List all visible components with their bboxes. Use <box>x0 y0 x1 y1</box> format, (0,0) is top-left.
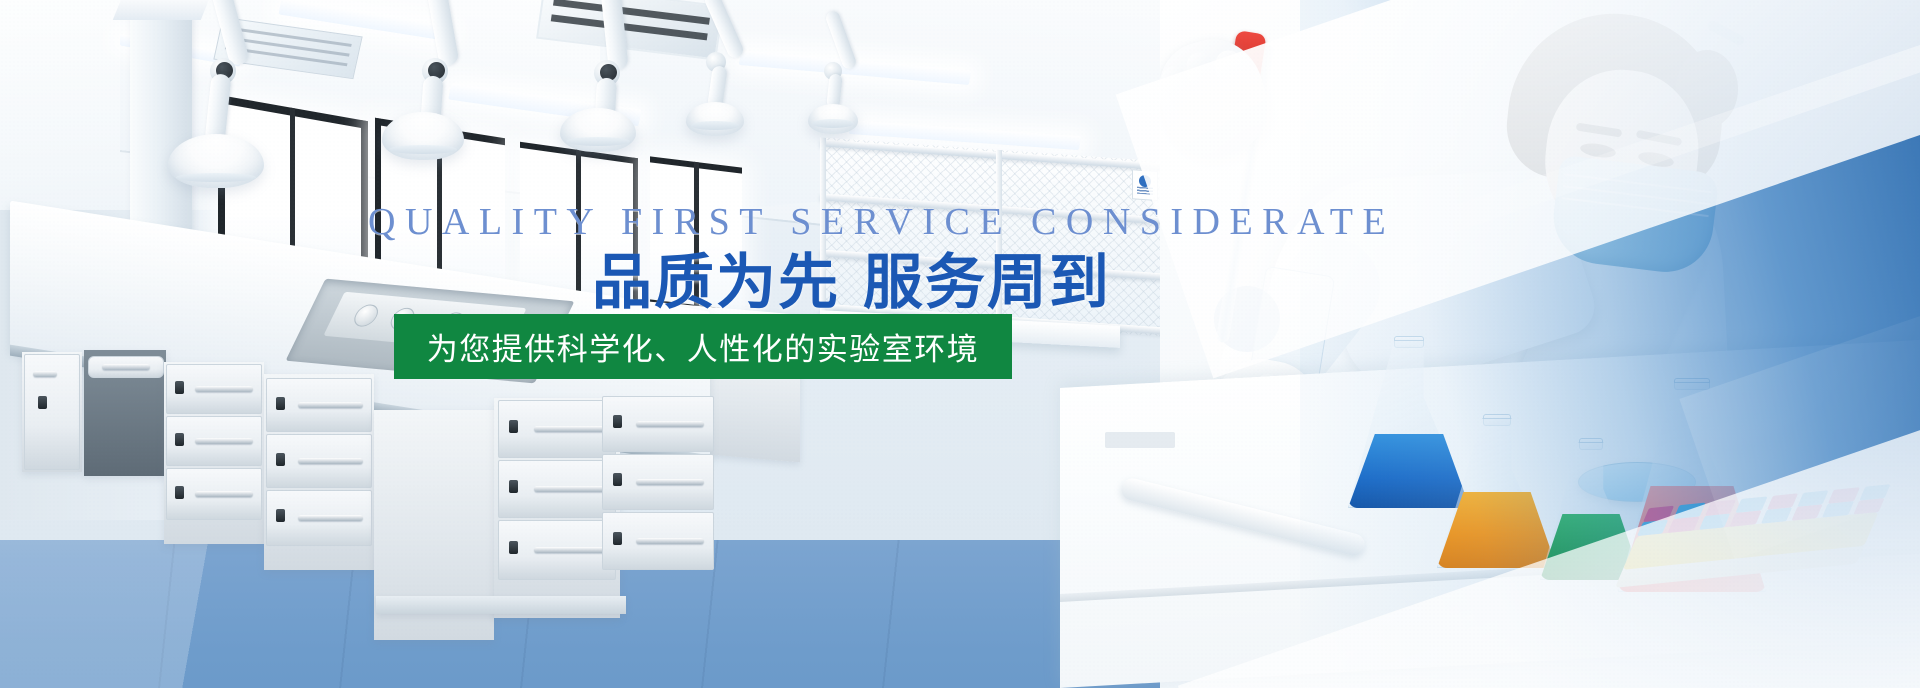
drawer-l3[interactable] <box>166 468 262 520</box>
drawer-r2[interactable] <box>266 434 372 488</box>
bench-plinth <box>376 596 626 614</box>
lab-hero-banner: QUALITY FIRST SERVICE CONSIDERATE 品质为先 服… <box>0 0 1920 688</box>
drawer-f4[interactable] <box>602 396 714 452</box>
english-tagline: QUALITY FIRST SERVICE CONSIDERATE <box>368 203 1395 241</box>
drawer-f2[interactable] <box>498 460 616 518</box>
drawer-l2[interactable] <box>166 416 262 466</box>
orange-flask-liquid <box>1437 492 1557 568</box>
drawer-r1[interactable] <box>266 378 372 432</box>
drawer-r3[interactable] <box>266 490 372 546</box>
rack-safety-label <box>1132 169 1158 201</box>
face-mask <box>1548 155 1719 278</box>
pullout-tray <box>88 356 164 378</box>
drawer-f1[interactable] <box>498 400 616 458</box>
green-subtitle-banner: 为您提供科学化、人性化的实验室环境 <box>394 314 1012 379</box>
drawer-f3[interactable] <box>498 520 616 580</box>
left-cabinet-door <box>24 354 80 470</box>
drawer-f6[interactable] <box>602 512 714 570</box>
head <box>1510 14 1724 264</box>
pillar-cap <box>113 0 212 20</box>
orange-flask <box>1437 418 1557 568</box>
drawer-l1[interactable] <box>166 364 262 414</box>
subtitle-chinese: 为您提供科学化、人性化的实验室环境 <box>427 324 980 369</box>
headline-chinese: 品质为先 服务周到 <box>592 248 1111 319</box>
drawer-f5[interactable] <box>602 454 714 510</box>
bench-label-chip <box>1105 432 1175 448</box>
